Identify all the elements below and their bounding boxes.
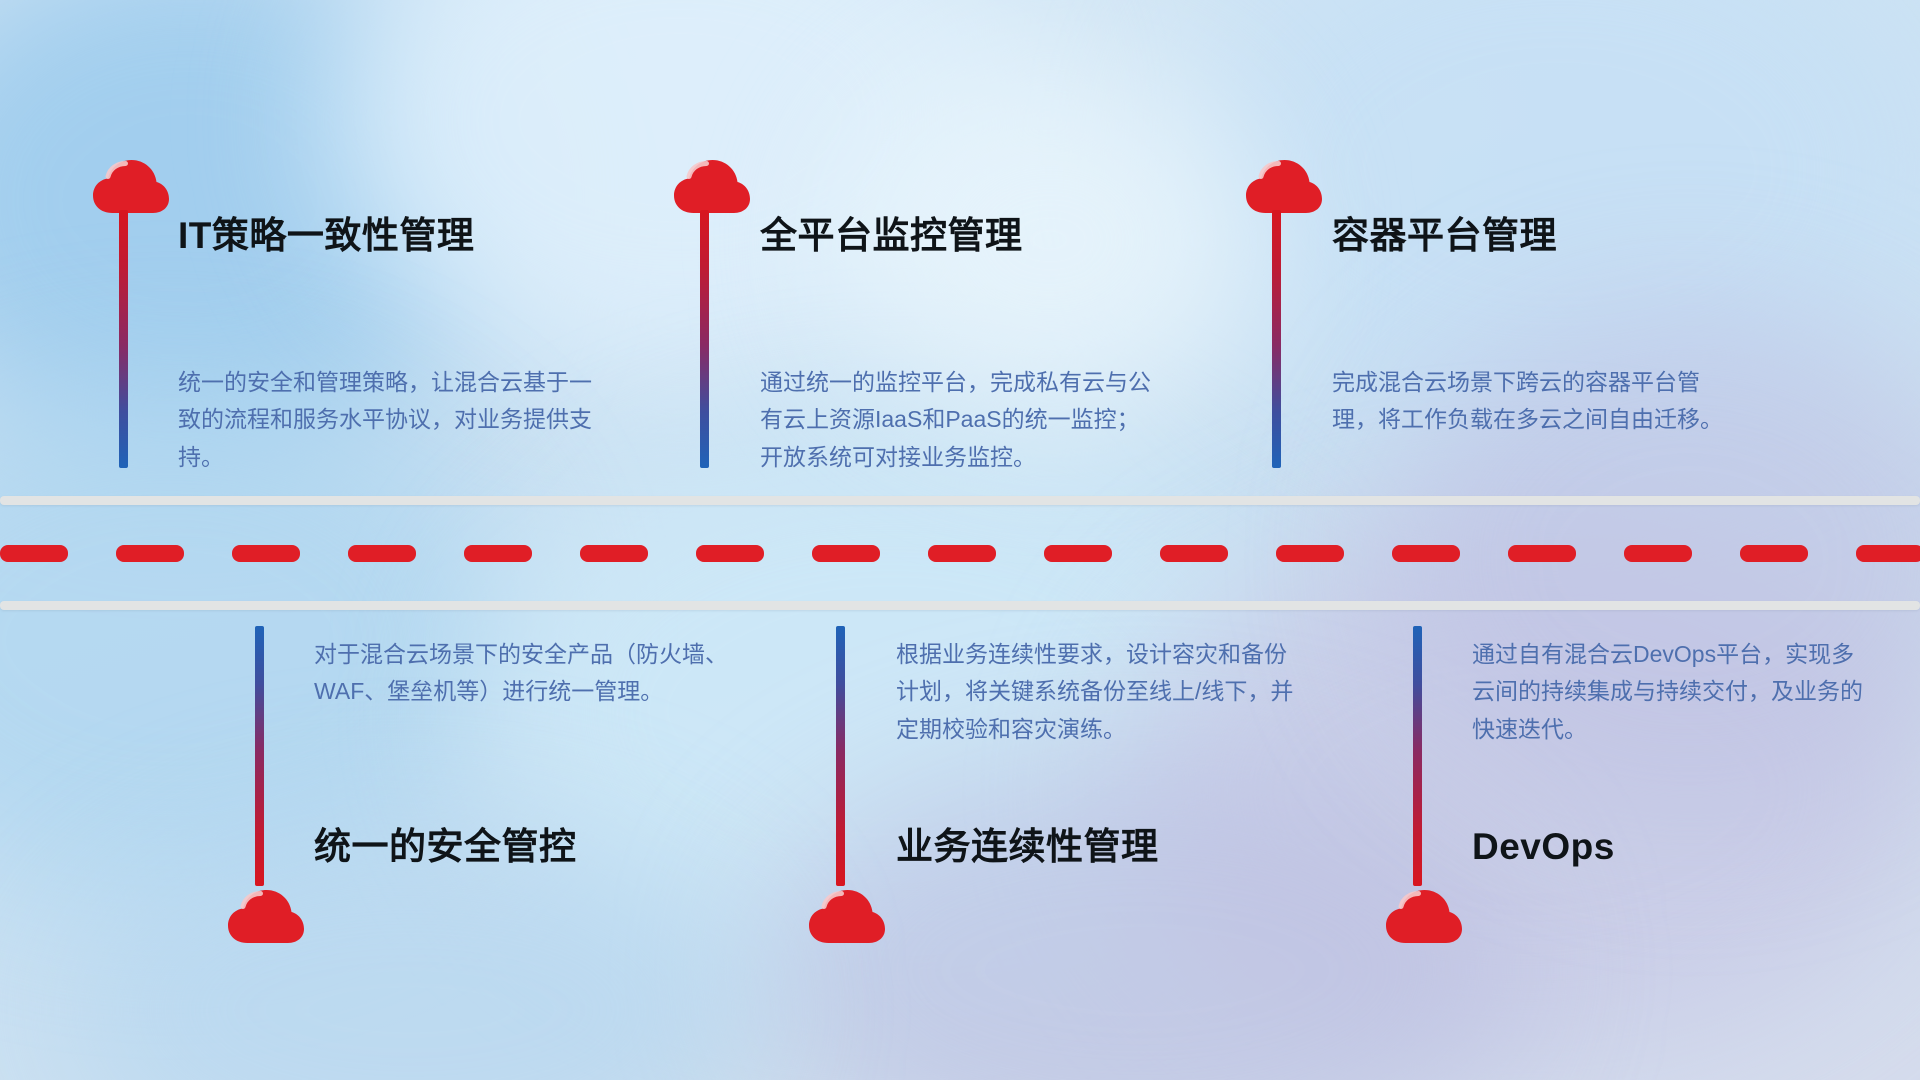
road-edge-top-line xyxy=(0,496,1920,505)
road-dash xyxy=(464,545,532,562)
bottom-item-2-stem xyxy=(836,626,845,886)
bottom-item-1-stem xyxy=(255,626,264,886)
bottom-item-1-body: 对于混合云场景下的安全产品（防火墙、WAF、堡垒机等）进行统一管理。 xyxy=(314,636,734,711)
top-item-3-body: 完成混合云场景下跨云的容器平台管理，将工作负载在多云之间自由迁移。 xyxy=(1332,364,1732,439)
road-dash xyxy=(1508,545,1576,562)
top-item-2-body: 通过统一的监控平台，完成私有云与公有云上资源IaaS和PaaS的统一监控；开放系… xyxy=(760,364,1160,476)
bottom-item-3-body: 通过自有混合云DevOps平台，实现多云间的持续集成与持续交付，及业务的快速迭代… xyxy=(1472,636,1872,748)
road-dash xyxy=(1044,545,1112,562)
cloud-icon xyxy=(808,888,886,946)
road-dash xyxy=(580,545,648,562)
road-dash xyxy=(1624,545,1692,562)
road-dash xyxy=(348,545,416,562)
bottom-item-2-body: 根据业务连续性要求，设计容灾和备份计划，将关键系统备份至线上/线下，并定期校验和… xyxy=(896,636,1296,748)
bottom-item-3-title: DevOps xyxy=(1472,827,1615,868)
road-dash xyxy=(116,545,184,562)
top-item-3-title: 容器平台管理 xyxy=(1332,216,1557,257)
bottom-item-1-marker xyxy=(227,888,305,946)
cloud-icon xyxy=(673,158,751,216)
road-dash xyxy=(1740,545,1808,562)
road-dash xyxy=(1392,545,1460,562)
infographic-stage: IT策略一致性管理 统一的安全和管理策略，让混合云基于一致的流程和服务水平协议，… xyxy=(0,0,1920,1080)
road-center-dashed-line xyxy=(0,545,1920,562)
road-edge-bottom-line xyxy=(0,601,1920,610)
cloud-icon xyxy=(227,888,305,946)
road-dash xyxy=(0,545,68,562)
cloud-icon xyxy=(92,158,170,216)
top-item-3-marker xyxy=(1245,158,1323,216)
road-dash xyxy=(1856,545,1920,562)
top-item-2-marker xyxy=(673,158,751,216)
top-item-1-body: 统一的安全和管理策略，让混合云基于一致的流程和服务水平协议，对业务提供支持。 xyxy=(178,364,598,476)
top-item-1-marker xyxy=(92,158,170,216)
cloud-icon xyxy=(1385,888,1463,946)
bottom-item-2-title: 业务连续性管理 xyxy=(896,827,1159,868)
bottom-item-2-marker xyxy=(808,888,886,946)
cloud-icon xyxy=(1245,158,1323,216)
road-dash xyxy=(1276,545,1344,562)
road-dash xyxy=(928,545,996,562)
top-item-1-stem xyxy=(119,210,128,468)
bottom-item-1-title: 统一的安全管控 xyxy=(314,827,577,868)
top-item-1-title: IT策略一致性管理 xyxy=(178,216,474,257)
road-dash xyxy=(812,545,880,562)
top-item-2-title: 全平台监控管理 xyxy=(760,216,1023,257)
road-dash xyxy=(696,545,764,562)
top-item-3-stem xyxy=(1272,210,1281,468)
top-item-2-stem xyxy=(700,210,709,468)
road-dash xyxy=(1160,545,1228,562)
bottom-item-3-marker xyxy=(1385,888,1463,946)
road-dash xyxy=(232,545,300,562)
bottom-item-3-stem xyxy=(1413,626,1422,886)
